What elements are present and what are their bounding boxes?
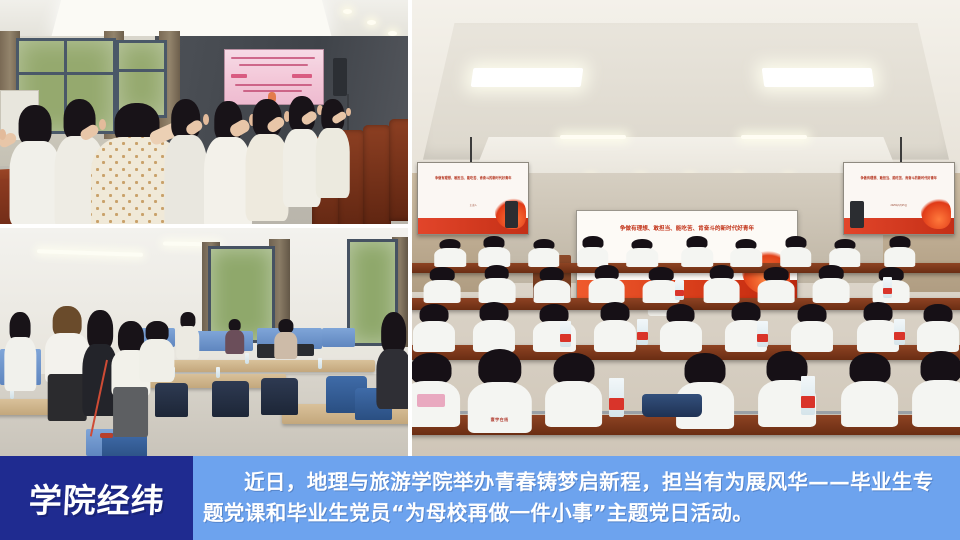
oath-scene <box>0 0 408 224</box>
audience-student <box>812 265 850 300</box>
audience-student <box>883 236 916 265</box>
audience-student <box>659 304 703 347</box>
audience-student <box>587 265 625 300</box>
water-bottle <box>894 319 905 346</box>
audience-student <box>839 353 899 419</box>
office-chair <box>261 378 298 414</box>
office-chair <box>155 383 188 417</box>
wall-speaker <box>505 201 518 228</box>
caption-text-block: 近日，地理与旅游学院举办青春铸梦启新程，担当有为展风华——毕业生专题党课和毕业生… <box>193 456 960 540</box>
audience-student <box>681 236 714 265</box>
water-bottle <box>757 321 768 348</box>
lecture-hall-photo: 争做有理想、敢担当、能吃苦、肯奋斗的新时代好青年 主讲人 争做有理想、敢担当、能… <box>412 0 960 456</box>
water-bottle <box>216 367 220 378</box>
water-bottle <box>609 378 623 417</box>
office-chair <box>212 381 249 417</box>
student-figure <box>224 319 244 353</box>
water-bottle <box>245 353 249 364</box>
handbag <box>642 394 702 417</box>
water-bottle <box>883 277 892 298</box>
photo-collage: 争做有理想、敢担当、能吃苦、肯奋斗的新时代好青年 主讲人 争做有理想、敢担当、能… <box>0 0 960 456</box>
student-figure <box>273 319 297 358</box>
screen-hanger <box>470 137 472 164</box>
desk-divider <box>322 328 355 346</box>
side-screen-title: 争做有理想、敢担当、能吃苦、肯奋斗的新时代好青年 <box>427 176 519 181</box>
cleaning-scene <box>0 228 408 456</box>
audience-student <box>593 302 637 347</box>
student-figure <box>314 99 351 202</box>
water-bottle <box>318 358 322 369</box>
water-bottle <box>801 376 815 415</box>
audience-student <box>527 239 560 266</box>
audience-student <box>412 353 461 419</box>
audience-student <box>434 239 467 266</box>
student-figure <box>163 99 208 224</box>
audience-student <box>730 239 763 266</box>
audience-student <box>757 267 795 300</box>
audience-student <box>856 302 900 347</box>
side-screen-title: 争做有理想、敢担当、能吃苦、肯奋斗的新时代好青年 <box>853 176 945 181</box>
caption-body-text: 近日，地理与旅游学院举办青春铸梦启新程，担当有为展风华——毕业生专题党课和毕业生… <box>203 467 946 529</box>
audience-student <box>911 351 960 419</box>
student-figure <box>139 321 176 380</box>
audience-student <box>412 304 456 347</box>
screen-hanger <box>900 137 902 164</box>
audience-student <box>472 302 516 347</box>
audience-student <box>478 236 511 265</box>
campus-cleaning-photo <box>0 228 408 456</box>
audience-student <box>544 353 604 419</box>
caption-label-text: 学院经纬 <box>27 474 166 522</box>
audience-student <box>478 265 516 300</box>
wall-speaker <box>850 201 863 228</box>
ceiling-panel-light <box>471 68 583 87</box>
audience-student <box>423 267 461 300</box>
oath-ceremony-photo <box>0 0 408 224</box>
broom-head <box>100 433 113 438</box>
audience-student <box>626 239 659 266</box>
water-bottle <box>675 280 684 301</box>
main-screen-title: 争做有理想、敢担当、能吃苦、肯奋斗的新时代好青年 <box>591 225 784 234</box>
audience-student <box>790 304 834 347</box>
smartphone <box>417 394 444 406</box>
student-figure <box>375 312 408 403</box>
ceiling-strip-light <box>741 135 807 139</box>
wall-speaker <box>333 58 347 96</box>
caption-banner: 学院经纬 近日，地理与旅游学院举办青春铸梦启新程，担当有为展风华——毕业生专题党… <box>0 456 960 540</box>
audience-student <box>702 265 740 300</box>
ceiling-panel-light <box>761 68 873 87</box>
audience-seating: 寰宇在线 <box>412 251 960 456</box>
water-bottle <box>560 321 571 348</box>
ceiling-light-panel <box>51 0 332 37</box>
ceiling-strip-light <box>560 135 626 139</box>
desk <box>147 360 375 371</box>
downlight-icon <box>343 9 352 14</box>
water-bottle <box>637 319 648 346</box>
poster-root: 争做有理想、敢担当、能吃苦、肯奋斗的新时代好青年 主讲人 争做有理想、敢担当、能… <box>0 0 960 540</box>
lecture-hall-scene: 争做有理想、敢担当、能吃苦、肯奋斗的新时代好青年 主讲人 争做有理想、敢担当、能… <box>412 0 960 456</box>
audience-student <box>533 267 571 300</box>
audience-student <box>916 304 960 347</box>
caption-label-block: 学院经纬 <box>0 456 193 540</box>
audience-student-foreground: 寰宇在线 <box>467 349 533 423</box>
audience-student <box>779 236 812 265</box>
student-figure <box>175 312 199 358</box>
audience-student <box>576 236 609 265</box>
audience-student <box>828 239 861 266</box>
student-figure <box>4 312 37 390</box>
shirt-print-text: 寰宇在线 <box>491 417 509 423</box>
